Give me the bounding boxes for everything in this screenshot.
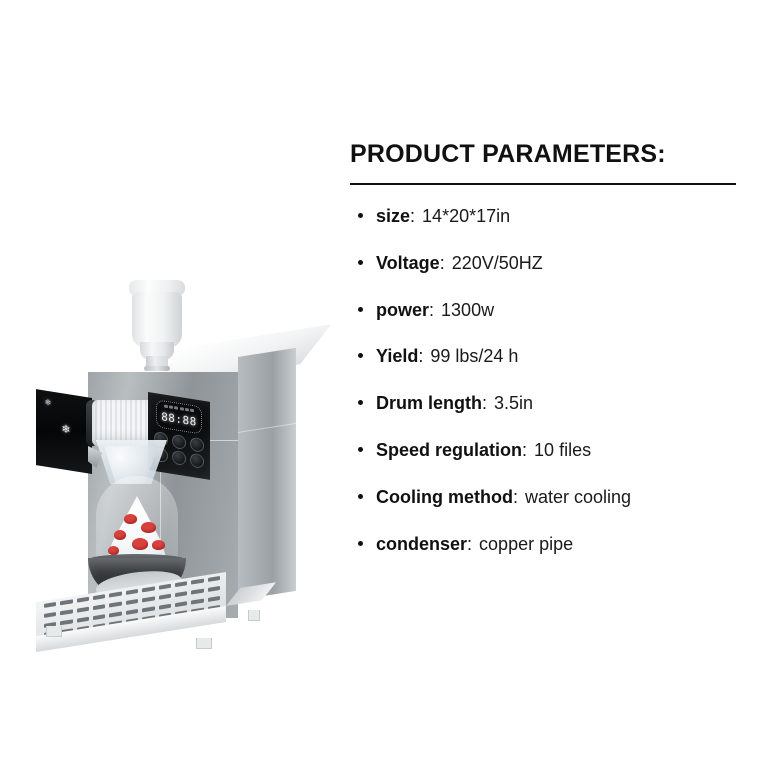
bullet-icon bbox=[358, 494, 363, 499]
machine-left-black-panel: ❄ ❄ bbox=[36, 389, 92, 474]
product-spec-page: ❄ ❄ 88:88 bbox=[0, 0, 768, 768]
led-display: 88:88 bbox=[156, 399, 202, 434]
machine-foot bbox=[196, 638, 212, 649]
control-button[interactable] bbox=[172, 434, 186, 450]
bullet-icon bbox=[358, 353, 363, 358]
list-item: Yield : 99 lbs/24 h bbox=[348, 347, 752, 367]
machine-foot bbox=[46, 626, 62, 637]
spec-value: water cooling bbox=[525, 488, 631, 508]
spec-label: Cooling method bbox=[376, 488, 513, 508]
strawberry-slice bbox=[114, 530, 126, 540]
list-item: condenser : copper pipe bbox=[348, 535, 752, 555]
list-item: power : 1300w bbox=[348, 301, 752, 321]
machine-foot bbox=[248, 610, 260, 621]
snowflake-icon: ❄ bbox=[42, 396, 54, 410]
spec-value: copper pipe bbox=[479, 535, 573, 555]
page-title: PRODUCT PARAMETERS: bbox=[350, 140, 752, 169]
control-button[interactable] bbox=[172, 450, 186, 466]
spec-colon: : bbox=[513, 488, 518, 508]
bottle-ring bbox=[144, 366, 170, 371]
list-item: Speed regulation : 10 files bbox=[348, 441, 752, 461]
spec-label: Speed regulation bbox=[376, 441, 522, 461]
list-item: Drum length : 3.5in bbox=[348, 394, 752, 414]
strawberry-slice bbox=[124, 514, 137, 524]
water-bottle bbox=[126, 280, 188, 372]
spec-value: 220V/50HZ bbox=[452, 254, 543, 274]
strawberry-slice bbox=[141, 522, 156, 533]
bullet-icon bbox=[358, 447, 363, 452]
specification-list: size : 14*20*17in Voltage : 220V/50HZ po… bbox=[348, 207, 752, 554]
spec-colon: : bbox=[522, 441, 527, 461]
spec-value: 3.5in bbox=[494, 394, 533, 414]
spec-colon: : bbox=[418, 347, 423, 367]
spec-colon: : bbox=[429, 301, 434, 321]
spec-value: 99 lbs/24 h bbox=[430, 347, 518, 367]
bottle-body bbox=[132, 292, 182, 348]
list-item: Voltage : 220V/50HZ bbox=[348, 254, 752, 274]
spec-value: 1300w bbox=[441, 301, 494, 321]
list-item: size : 14*20*17in bbox=[348, 207, 752, 227]
spec-value: 10 files bbox=[534, 441, 591, 461]
control-button[interactable] bbox=[190, 437, 204, 453]
spec-colon: : bbox=[410, 207, 415, 227]
spec-colon: : bbox=[467, 535, 472, 555]
spec-label: power bbox=[376, 301, 429, 321]
spec-label: Drum length bbox=[376, 394, 482, 414]
control-button[interactable] bbox=[190, 453, 204, 469]
spec-label: Voltage bbox=[376, 254, 440, 274]
product-image: ❄ ❄ 88:88 bbox=[0, 110, 340, 580]
bullet-icon bbox=[358, 260, 363, 265]
specifications-panel: PRODUCT PARAMETERS: size : 14*20*17in Vo… bbox=[348, 140, 752, 581]
bullet-icon bbox=[358, 400, 363, 405]
strawberry-slice bbox=[152, 540, 165, 550]
spec-colon: : bbox=[482, 394, 487, 414]
bullet-icon bbox=[358, 307, 363, 312]
bullet-icon bbox=[358, 541, 363, 546]
spec-label: condenser bbox=[376, 535, 467, 555]
spec-colon: : bbox=[440, 254, 445, 274]
bullet-icon bbox=[358, 213, 363, 218]
snowflake-icon: ❄ bbox=[60, 423, 72, 437]
list-item: Cooling method : water cooling bbox=[348, 488, 752, 508]
spec-label: Yield bbox=[376, 347, 418, 367]
machine-side-panel bbox=[238, 348, 296, 600]
strawberry-slice bbox=[132, 538, 148, 550]
spec-value: 14*20*17in bbox=[422, 207, 510, 227]
title-divider bbox=[350, 183, 736, 185]
spec-label: size bbox=[376, 207, 410, 227]
